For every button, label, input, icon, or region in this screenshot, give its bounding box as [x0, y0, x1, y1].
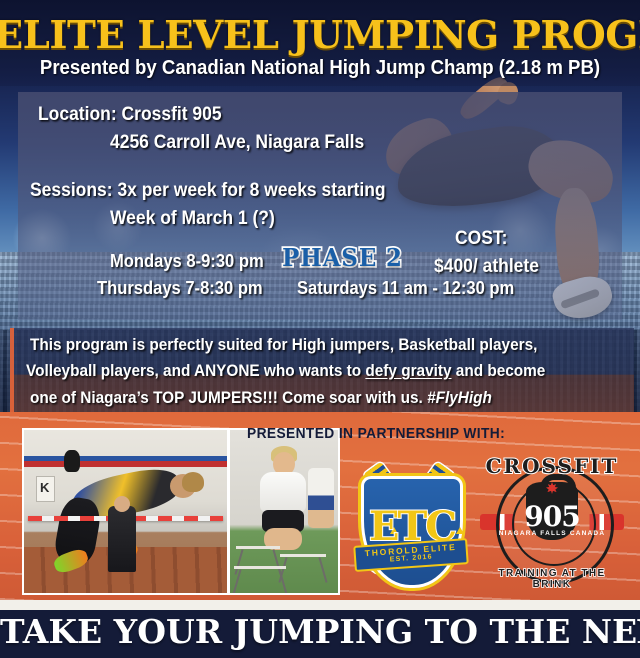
coach-body	[108, 506, 136, 572]
phase-badge: PHASE 2	[282, 243, 403, 272]
photo-high-jump	[22, 428, 229, 595]
description-line-1: This program is perfectly suited for Hig…	[30, 336, 537, 355]
page-title: ELITE LEVEL JUMPING PROGRAM	[0, 12, 640, 57]
partnership-title: PRESENTED IN PARTNERSHIP WITH:	[16, 426, 624, 442]
sessions-start-week: Week of March 1 (?)	[110, 208, 275, 230]
location-value: Crossfit 905	[122, 104, 222, 125]
description-line-3: one of Niagara’s TOP JUMPERS!!! Come soa…	[30, 389, 492, 408]
wall-logo	[64, 450, 80, 472]
poster: ELITE LEVEL JUMPING PROGRAM Presented by…	[0, 0, 640, 658]
crossfit-905-logo: 905 NIAGARA FALLS CANADA CROSSFIT TRAINI…	[482, 452, 622, 592]
hashtag: #FlyHigh	[427, 389, 492, 407]
coach-head	[114, 496, 130, 512]
sessions-row: Sessions: 3x per week for 8 weeks starti…	[30, 180, 386, 202]
athlete2-shirt	[260, 472, 306, 512]
schedule-saturday: Saturdays 11 am - 12:30 pm	[297, 278, 514, 299]
photo-hurdle-jump	[228, 428, 340, 595]
schedule-thursday: Thursdays 7-8:30 pm	[97, 278, 263, 299]
etc-thorold-elite-logo: ETC THOROLD ELITE EST. 2016	[348, 450, 470, 592]
description-line-2: Volleyball players, and ANYONE who wants…	[26, 362, 545, 381]
crossfit-country: NIAGARA FALLS CANADA	[482, 530, 622, 537]
description-line-3-a: one of Niagara’s TOP JUMPERS!!! Come soa…	[30, 389, 427, 407]
background-athlete	[308, 468, 334, 528]
crossfit-tagline: TRAINING AT THE BRINK	[482, 568, 622, 590]
page-subtitle: Presented by Canadian National High Jump…	[22, 57, 617, 80]
gym-wall-stripe	[24, 456, 227, 467]
athlete-hair	[182, 472, 204, 492]
location-label: Location:	[38, 104, 117, 125]
hurdle-3	[234, 566, 286, 595]
address-value: 4256 Carroll Ave, Niagara Falls	[110, 132, 364, 154]
schedule-monday: Mondays 8-9:30 pm	[110, 251, 264, 272]
hurdle-2	[280, 554, 326, 585]
sessions-label: Sessions:	[30, 180, 113, 201]
cost-label: COST:	[455, 228, 507, 250]
description-line-2-a: Volleyball players, and ANYONE who wants…	[26, 362, 365, 380]
footer-text: TAKE YOUR JUMPING TO THE NEXT LEVEL	[0, 612, 640, 651]
description-line-2-b: and become	[452, 362, 546, 380]
sessions-value: 3x per week for 8 weeks starting	[117, 180, 385, 201]
footer-divider	[0, 600, 640, 610]
location-row: Location: Crossfit 905	[38, 104, 222, 126]
description-emphasis: defy gravity	[365, 362, 451, 380]
crossfit-number: 905	[482, 500, 622, 533]
wall-sign-k	[36, 476, 55, 502]
crossfit-wordmark: CROSSFIT	[482, 454, 622, 478]
cost-value: $400/ athlete	[434, 256, 539, 278]
